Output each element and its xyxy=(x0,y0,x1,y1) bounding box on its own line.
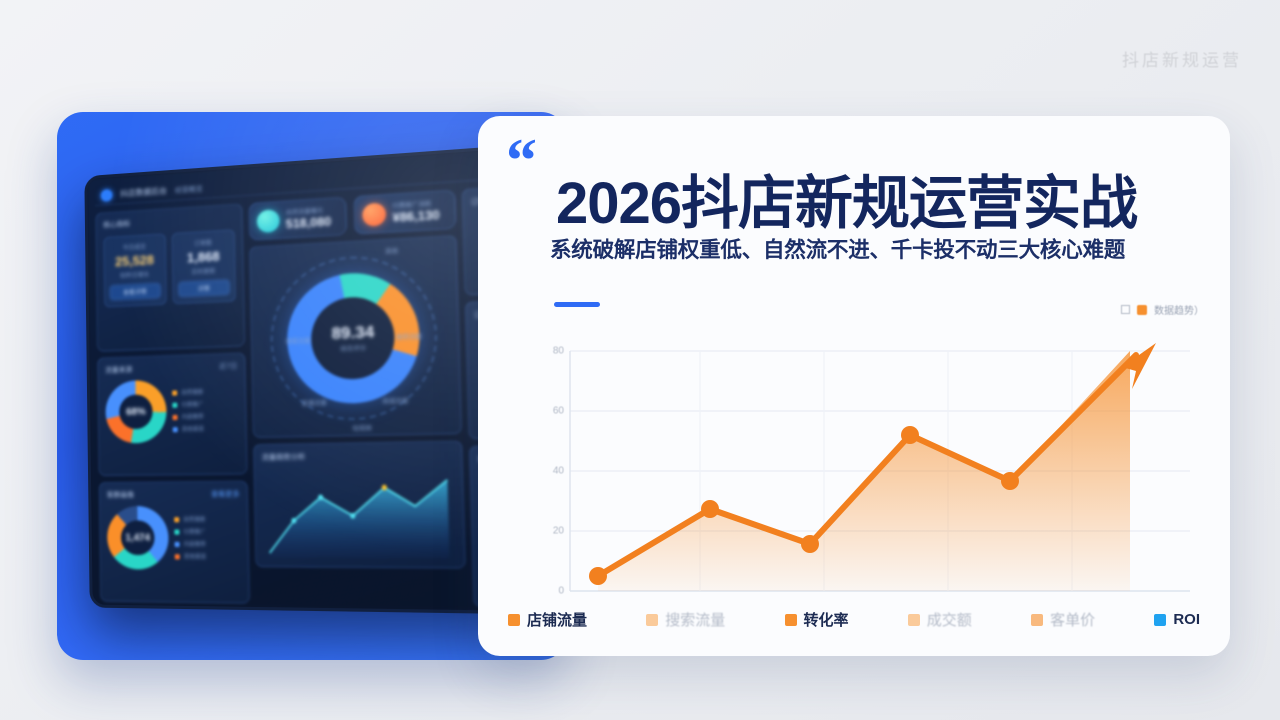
main-line-chart: 80 60 40 20 0 xyxy=(570,341,1190,601)
y-axis-tick: 20 xyxy=(553,525,564,536)
legend-item-gmv[interactable]: 成交额 xyxy=(908,609,972,630)
legend-item-search-traffic[interactable]: 搜索流量 xyxy=(646,609,725,630)
legend-label: 店铺流量 xyxy=(527,609,587,630)
stat-box[interactable]: 今日成交 25,528 较昨日增长 查看详情 xyxy=(103,233,166,307)
data-point xyxy=(1001,472,1019,490)
y-axis-tick: 60 xyxy=(553,406,564,417)
trend-svg xyxy=(262,465,456,560)
legend-swatch-icon xyxy=(1154,614,1166,626)
gauge-label: 直播流量 xyxy=(301,398,326,408)
legend-label: ROI xyxy=(1173,611,1200,628)
legend-label: 搜索流量 xyxy=(665,609,725,630)
page-subtitle: 系统破解店铺权重低、自然流不进、千卡投不动三大核心难题 xyxy=(550,233,1125,264)
donut-center-value: 1,474 xyxy=(125,532,150,543)
kpi-value: 518,080 xyxy=(286,214,332,231)
stat-label: 订单数 xyxy=(177,237,229,249)
gauge-unit: 综合评分 xyxy=(332,342,375,353)
legend-swatch-icon xyxy=(172,390,177,395)
legend-item-avg-order-value[interactable]: 客单价 xyxy=(1031,609,1095,630)
data-point xyxy=(901,426,919,444)
spend-icon xyxy=(362,202,386,226)
stat-value: 1,868 xyxy=(177,248,229,266)
legend-row: 自然搜索 xyxy=(174,515,205,523)
legend-row: 内容推荐 xyxy=(172,412,203,421)
legend-item-conversion-rate[interactable]: 转化率 xyxy=(785,609,849,630)
legend-swatch-icon xyxy=(174,517,179,522)
chart-tag: 数据趋势） xyxy=(1121,302,1204,317)
kpi-text: 自然流量曝光 518,080 xyxy=(286,205,332,231)
donut-legend: 自然搜索 付费推广 内容推荐 其他渠道 xyxy=(172,388,204,434)
y-axis-tick: 0 xyxy=(558,585,564,596)
legend-label: 自然搜索 xyxy=(181,388,203,397)
donut-legend: 自然搜索 付费推广 内容推荐 其他渠道 xyxy=(174,515,206,561)
data-point xyxy=(701,500,719,518)
line-chart-svg xyxy=(570,341,1190,601)
gauge-panel: 89.34 综合评分 搜索流量 推荐流量 直播流量 商城流量 短视频 其他 xyxy=(249,235,461,438)
gauge-label: 其他 xyxy=(385,246,398,256)
stat-sub: 较昨日增长 xyxy=(110,269,160,281)
overview-card-header: 核心指标 xyxy=(103,212,234,230)
traffic-icon xyxy=(257,209,280,233)
donut-chart: 68% xyxy=(105,380,167,444)
calendar-icon xyxy=(1121,305,1130,314)
legend-swatch-icon xyxy=(646,614,658,626)
legend-label: 付费推广 xyxy=(181,400,203,409)
page-title: 2026抖店新规运营实战 xyxy=(556,156,1137,240)
panel-header: 客群画像 查看更多 xyxy=(107,489,240,500)
legend-row: 自然搜索 xyxy=(172,388,203,397)
kpi-card[interactable]: 自然流量曝光 518,080 xyxy=(248,197,346,241)
legend-swatch-icon xyxy=(175,554,180,559)
donut-chart: 1,474 xyxy=(107,506,169,570)
trend-panel: 流量趋势分析 xyxy=(253,441,465,569)
legend-item-store-traffic[interactable]: 店铺流量 xyxy=(508,609,587,630)
legend-label: 其他渠道 xyxy=(184,552,206,560)
legend-label: 自然搜索 xyxy=(183,515,205,523)
legend-label: 转化率 xyxy=(804,609,849,630)
stat-sub: 实时更新 xyxy=(178,265,230,277)
y-axis-tick: 40 xyxy=(553,466,564,477)
stat-label: 今日成交 xyxy=(109,241,159,253)
panel-title: 流量来源 xyxy=(105,365,132,376)
legend-row: 其他渠道 xyxy=(173,424,204,433)
data-point xyxy=(589,567,607,585)
legend-row: 付费推广 xyxy=(174,527,205,535)
panel-title: 流量趋势分析 xyxy=(262,452,306,463)
watermark-text: 抖店新规运营 xyxy=(1122,46,1242,71)
kpi-card[interactable]: 付费推广消耗 ¥86,130 xyxy=(353,190,456,235)
legend-swatch-icon xyxy=(172,402,177,407)
dashboard-column-center: 自然流量曝光 518,080 付费推广消耗 ¥86,130 xyxy=(248,190,466,609)
legend-label: 内容推荐 xyxy=(184,540,206,548)
legend-swatch-icon xyxy=(174,529,179,534)
gauge-outer-ring xyxy=(269,252,439,422)
quote-mark-icon: “ xyxy=(506,130,537,192)
legend-item-roi[interactable]: ROI xyxy=(1154,611,1200,628)
dashboard-column-left: 核心指标 今日成交 25,528 较昨日增长 查看详情 订单数 1 xyxy=(95,203,250,605)
audience-panel: 客群画像 查看更多 1,474 自然搜索 付费推广 内容推荐 其他渠道 xyxy=(99,481,250,604)
kpi-label: 自然流量曝光 xyxy=(286,205,331,217)
chart-legend: 店铺流量 搜索流量 转化率 成交额 客单价 ROI xyxy=(500,609,1208,630)
legend-swatch-icon xyxy=(175,541,180,546)
legend-row: 付费推广 xyxy=(172,400,203,409)
series-swatch-icon xyxy=(1137,305,1147,315)
panel-header: 流量趋势分析 xyxy=(262,449,454,462)
legend-label: 客单价 xyxy=(1050,609,1095,630)
donut-with-legend: 68% 自然搜索 付费推广 内容推荐 其他渠道 xyxy=(105,377,238,443)
legend-row: 内容推荐 xyxy=(175,540,206,548)
hero-content-card: “ 2026抖店新规运营实战 系统破解店铺权重低、自然流不进、千卡投不动三大核心… xyxy=(478,116,1230,656)
stat-action-button[interactable]: 查看详情 xyxy=(110,283,161,300)
gauge-chart: 89.34 综合评分 搜索流量 推荐流量 直播流量 商城流量 短视频 其他 xyxy=(286,243,423,432)
legend-row: 其他渠道 xyxy=(175,552,206,560)
kpi-row: 自然流量曝光 518,080 付费推广消耗 ¥86,130 xyxy=(248,190,456,241)
gauge-value: 89.34 xyxy=(331,323,374,344)
panel-title: 客群画像 xyxy=(107,490,135,500)
accent-divider xyxy=(554,302,600,307)
brand-logo-icon xyxy=(101,189,113,202)
legend-swatch-icon xyxy=(1031,614,1043,626)
gauge-ring xyxy=(286,270,421,405)
donut-center-value: 68% xyxy=(126,406,146,418)
overview-title: 核心指标 xyxy=(103,219,130,231)
stat-value: 25,528 xyxy=(109,252,159,270)
y-axis-tick: 80 xyxy=(553,346,564,357)
overview-card: 核心指标 今日成交 25,528 较昨日增长 查看详情 订单数 1 xyxy=(95,203,245,351)
legend-label: 其他渠道 xyxy=(182,424,204,433)
kpi-text: 付费推广消耗 ¥86,130 xyxy=(392,198,440,225)
legend-label: 内容推荐 xyxy=(181,412,203,421)
dashboard-menu[interactable]: 经营概览 xyxy=(175,183,203,195)
legend-swatch-icon xyxy=(908,614,920,626)
panel-header: 流量来源 近7日 xyxy=(105,361,237,375)
stat-box[interactable]: 订单数 1,868 实时更新 详情 xyxy=(171,229,236,304)
legend-swatch-icon xyxy=(173,427,178,432)
kpi-value: ¥86,130 xyxy=(392,207,440,225)
data-point xyxy=(801,535,819,553)
legend-label: 成交额 xyxy=(927,609,972,630)
gauge-label: 搜索流量 xyxy=(286,336,311,346)
gauge-label: 短视频 xyxy=(352,423,372,433)
stat-row: 今日成交 25,528 较昨日增长 查看详情 订单数 1,868 实时更新 详情 xyxy=(103,229,236,307)
panel-badge[interactable]: 查看更多 xyxy=(211,489,240,500)
trend-area-chart xyxy=(262,465,456,560)
gauge-label: 商城流量 xyxy=(382,396,408,406)
donut-with-legend: 1,474 自然搜索 付费推广 内容推荐 其他渠道 xyxy=(107,506,241,571)
stat-action-button[interactable]: 详情 xyxy=(178,279,230,297)
legend-swatch-icon xyxy=(508,614,520,626)
chart-tag-label: 数据趋势） xyxy=(1154,302,1204,317)
gauge-label: 推荐流量 xyxy=(396,332,422,343)
legend-swatch-icon xyxy=(785,614,797,626)
panel-badge[interactable]: 近7日 xyxy=(219,361,237,372)
legend-label: 付费推广 xyxy=(183,527,205,535)
legend-swatch-icon xyxy=(173,414,178,419)
gauge-center: 89.34 综合评分 xyxy=(331,323,374,353)
dashboard-brand: 抖店数据后台 xyxy=(120,185,167,199)
traffic-source-panel: 流量来源 近7日 68% 自然搜索 付费推广 内容推荐 其他渠道 xyxy=(97,352,247,476)
kpi-label: 付费推广消耗 xyxy=(392,198,439,210)
